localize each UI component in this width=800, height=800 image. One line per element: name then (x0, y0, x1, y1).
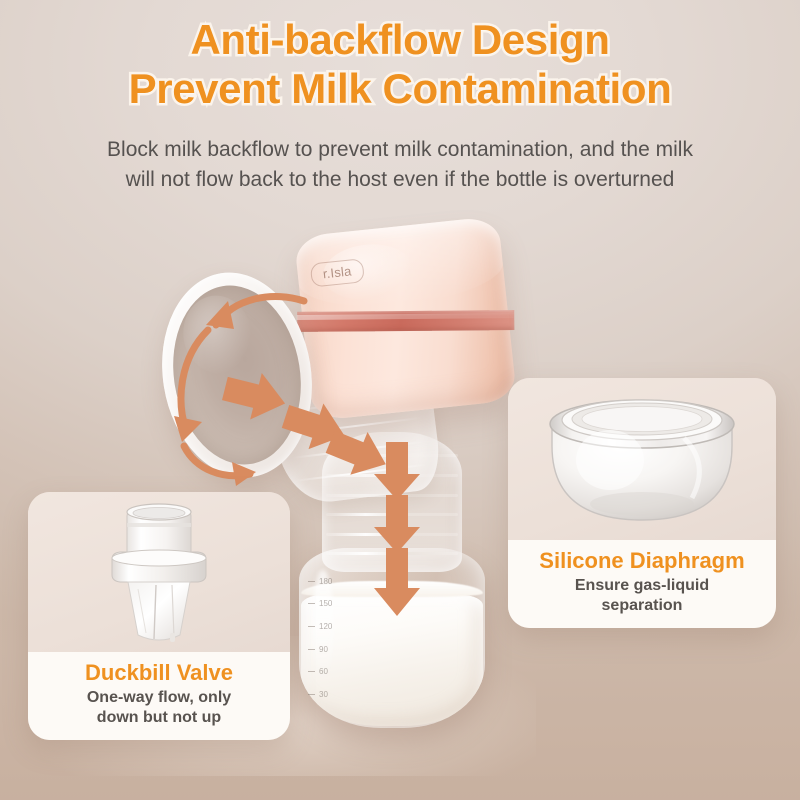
duckbill-valve-desc-1: One-way flow, only (38, 688, 280, 708)
motor-shell (294, 216, 517, 421)
flange-sheen (177, 290, 256, 378)
silicone-diaphragm-title: Silicone Diaphragm (518, 548, 766, 574)
duckbill-valve-desc-2: down but not up (38, 708, 280, 728)
bottle-highlight (312, 570, 334, 682)
scale-tick: 180 (308, 577, 360, 586)
scale-tick: 120 (308, 622, 360, 631)
down-flow-arrow-3 (372, 546, 422, 618)
headline-line-2: Prevent Milk Contamination (0, 65, 800, 114)
pump-flange (148, 262, 326, 489)
scale-tick: 150 (308, 599, 360, 608)
milk-fill (301, 595, 483, 726)
pump-connector (269, 359, 444, 508)
down-flow-arrow-1 (372, 440, 422, 502)
milk-surface (301, 581, 483, 597)
subtitle-line-1: Block milk backflow to prevent milk cont… (48, 135, 752, 165)
silicone-diaphragm-icon (534, 394, 750, 530)
silicone-diaphragm-desc-1: Ensure gas-liquid (518, 576, 766, 596)
scale-tick: 90 (308, 645, 360, 654)
callout-card-duckbill-valve[interactable]: Duckbill Valve One-way flow, only down b… (28, 492, 290, 740)
subtitle: Block milk backflow to prevent milk cont… (48, 135, 752, 195)
curved-flow-arrow-top (200, 285, 310, 331)
page-title: Anti-backflow Design Prevent Milk Contam… (0, 16, 800, 113)
duckbill-valve-icon (94, 499, 224, 645)
callout-card-silicone-diaphragm[interactable]: Silicone Diaphragm Ensure gas-liquid sep… (508, 378, 776, 628)
bottle-glass (299, 548, 485, 728)
valve-assembly (322, 432, 462, 572)
milk-bottle: 180 150 120 90 60 30 (299, 548, 485, 728)
motor-accent-band (297, 310, 514, 332)
brand-logo: r.Isla (310, 258, 365, 287)
pump-motor-body: r.Isla (294, 216, 517, 421)
flange-bowl (161, 276, 314, 473)
silicone-diaphragm-desc-2: separation (518, 596, 766, 616)
duckbill-valve-label: Duckbill Valve One-way flow, only down b… (28, 652, 290, 740)
motor-band-highlight (297, 313, 514, 320)
down-flow-arrow-2 (372, 493, 422, 555)
flange-rim (148, 262, 326, 489)
scale-tick: 30 (308, 690, 360, 699)
bottle-measurement-scale: 180 150 120 90 60 30 (308, 577, 360, 699)
right-flow-arrow-1 (222, 370, 288, 422)
scale-tick: 60 (308, 667, 360, 676)
duckbill-valve-title: Duckbill Valve (38, 660, 280, 686)
right-flow-arrow-3 (326, 428, 390, 478)
motor-top-shade (294, 216, 506, 315)
duckbill-valve-image (28, 492, 290, 652)
curved-flow-arrow-bottom (178, 438, 258, 486)
product-infographic: Anti-backflow Design Prevent Milk Contam… (0, 0, 800, 800)
right-flow-arrow-2 (282, 400, 348, 452)
subtitle-line-2: will not flow back to the host even if t… (48, 165, 752, 195)
motor-gloss (320, 240, 415, 305)
headline-line-1: Anti-backflow Design (0, 16, 800, 65)
curved-flow-arrow-left (168, 322, 220, 446)
silicone-diaphragm-label: Silicone Diaphragm Ensure gas-liquid sep… (508, 540, 776, 628)
silicone-diaphragm-image (508, 378, 776, 540)
